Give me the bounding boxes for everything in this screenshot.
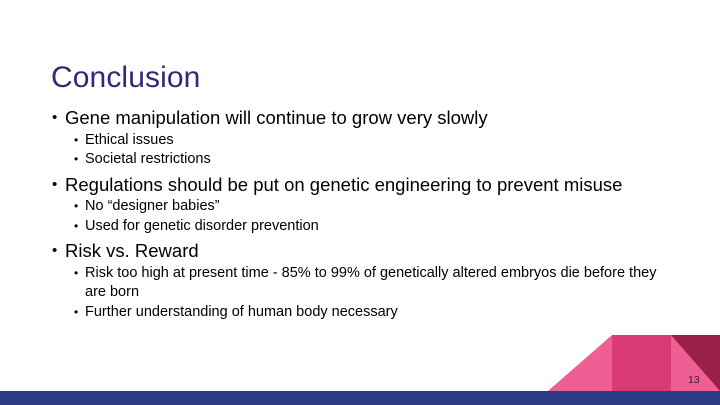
bullet-marker-icon: •: [74, 264, 85, 284]
bullet-marker-icon: •: [74, 197, 85, 217]
bullet-marker-icon: •: [74, 150, 85, 170]
bullet-level2: • Used for genetic disorder prevention: [74, 217, 667, 237]
bullet-level1-text: Risk vs. Reward: [65, 239, 667, 263]
bullet-level2-text: Societal restrictions: [85, 150, 667, 170]
bullet-group: • Risk vs. Reward • Risk too high at pre…: [52, 239, 667, 322]
bullet-group: • Gene manipulation will continue to gro…: [52, 106, 667, 170]
bullet-level2-text: Further understanding of human body nece…: [85, 303, 667, 323]
bullet-group: • Regulations should be put on genetic e…: [52, 173, 667, 237]
bullet-level1-text: Regulations should be put on genetic eng…: [65, 173, 667, 197]
bullet-marker-icon: •: [74, 217, 85, 237]
bullet-level2: • Societal restrictions: [74, 150, 667, 170]
bullet-marker-icon: •: [52, 239, 65, 263]
footer-bar: [0, 391, 720, 405]
page-title: Conclusion: [51, 60, 200, 96]
bullet-level2: • Ethical issues: [74, 131, 667, 151]
pink-triangle-shape: [548, 335, 612, 391]
slide-canvas: Conclusion • Gene manipulation will cont…: [0, 0, 720, 405]
bullet-level2: • Further understanding of human body ne…: [74, 303, 667, 323]
bullet-level2-text: Risk too high at present time - 85% to 9…: [85, 264, 667, 303]
bullet-level2-text: Used for genetic disorder prevention: [85, 217, 667, 237]
bullet-level1: • Regulations should be put on genetic e…: [52, 173, 667, 197]
bullet-level1: • Risk vs. Reward: [52, 239, 667, 263]
slide-body: • Gene manipulation will continue to gro…: [52, 106, 667, 324]
page-number: 13: [688, 374, 700, 386]
bullet-level2: • Risk too high at present time - 85% to…: [74, 264, 667, 303]
bullet-level2-text: Ethical issues: [85, 131, 667, 151]
bullet-marker-icon: •: [74, 303, 85, 323]
bullet-level2: • No “designer babies”: [74, 197, 667, 217]
bullet-marker-icon: •: [74, 131, 85, 151]
bullet-level2-text: No “designer babies”: [85, 197, 667, 217]
bullet-level1: • Gene manipulation will continue to gro…: [52, 106, 667, 130]
bullet-level1-text: Gene manipulation will continue to grow …: [65, 106, 667, 130]
pink-rectangle-shape: [612, 335, 671, 391]
bullet-marker-icon: •: [52, 173, 65, 197]
bullet-marker-icon: •: [52, 106, 65, 130]
